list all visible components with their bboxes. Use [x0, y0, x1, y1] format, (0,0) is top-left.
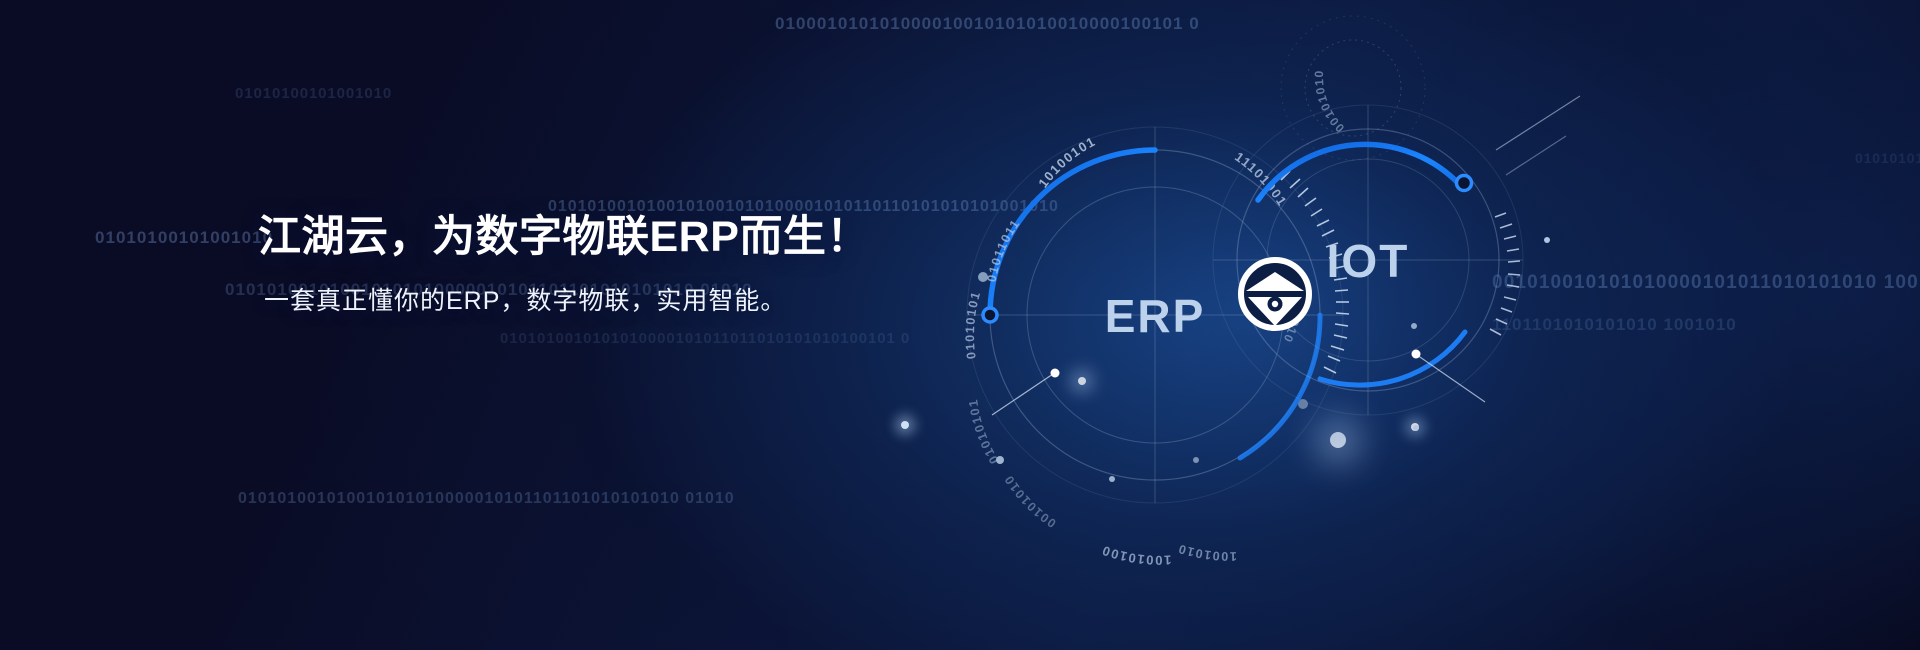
page-title: 江湖云，为数字物联ERP而生！ [258, 212, 870, 263]
binary-text-3: 01010100101001010 [95, 228, 273, 248]
binary-text-9: 0101010101001010 [1855, 150, 1920, 166]
erp-iot-graphic: 10100101 01011011 01010101 01010101 0010… [940, 10, 1620, 630]
page-subtitle: 一套真正懂你的ERP，数字物联，实用智能。 [258, 285, 870, 318]
hero-banner: 010001010101000010010101010010000100101 … [0, 0, 1920, 650]
binary-text-1: 01010100101001010 [235, 85, 392, 102]
iot-ring-label: IOT [1327, 235, 1410, 287]
hero-copy: 江湖云，为数字物联ERP而生！ 一套真正懂你的ERP，数字物联，实用智能。 [258, 212, 870, 317]
binary-text-5: 0101010010101010000101011011010101010100… [500, 330, 910, 347]
binary-text-6: 0101010010100101010100000101011011010101… [238, 490, 735, 508]
logo-badge-icon [1241, 260, 1309, 328]
particle-dot-1 [901, 421, 909, 429]
erp-ring-label: ERP [1105, 290, 1206, 342]
